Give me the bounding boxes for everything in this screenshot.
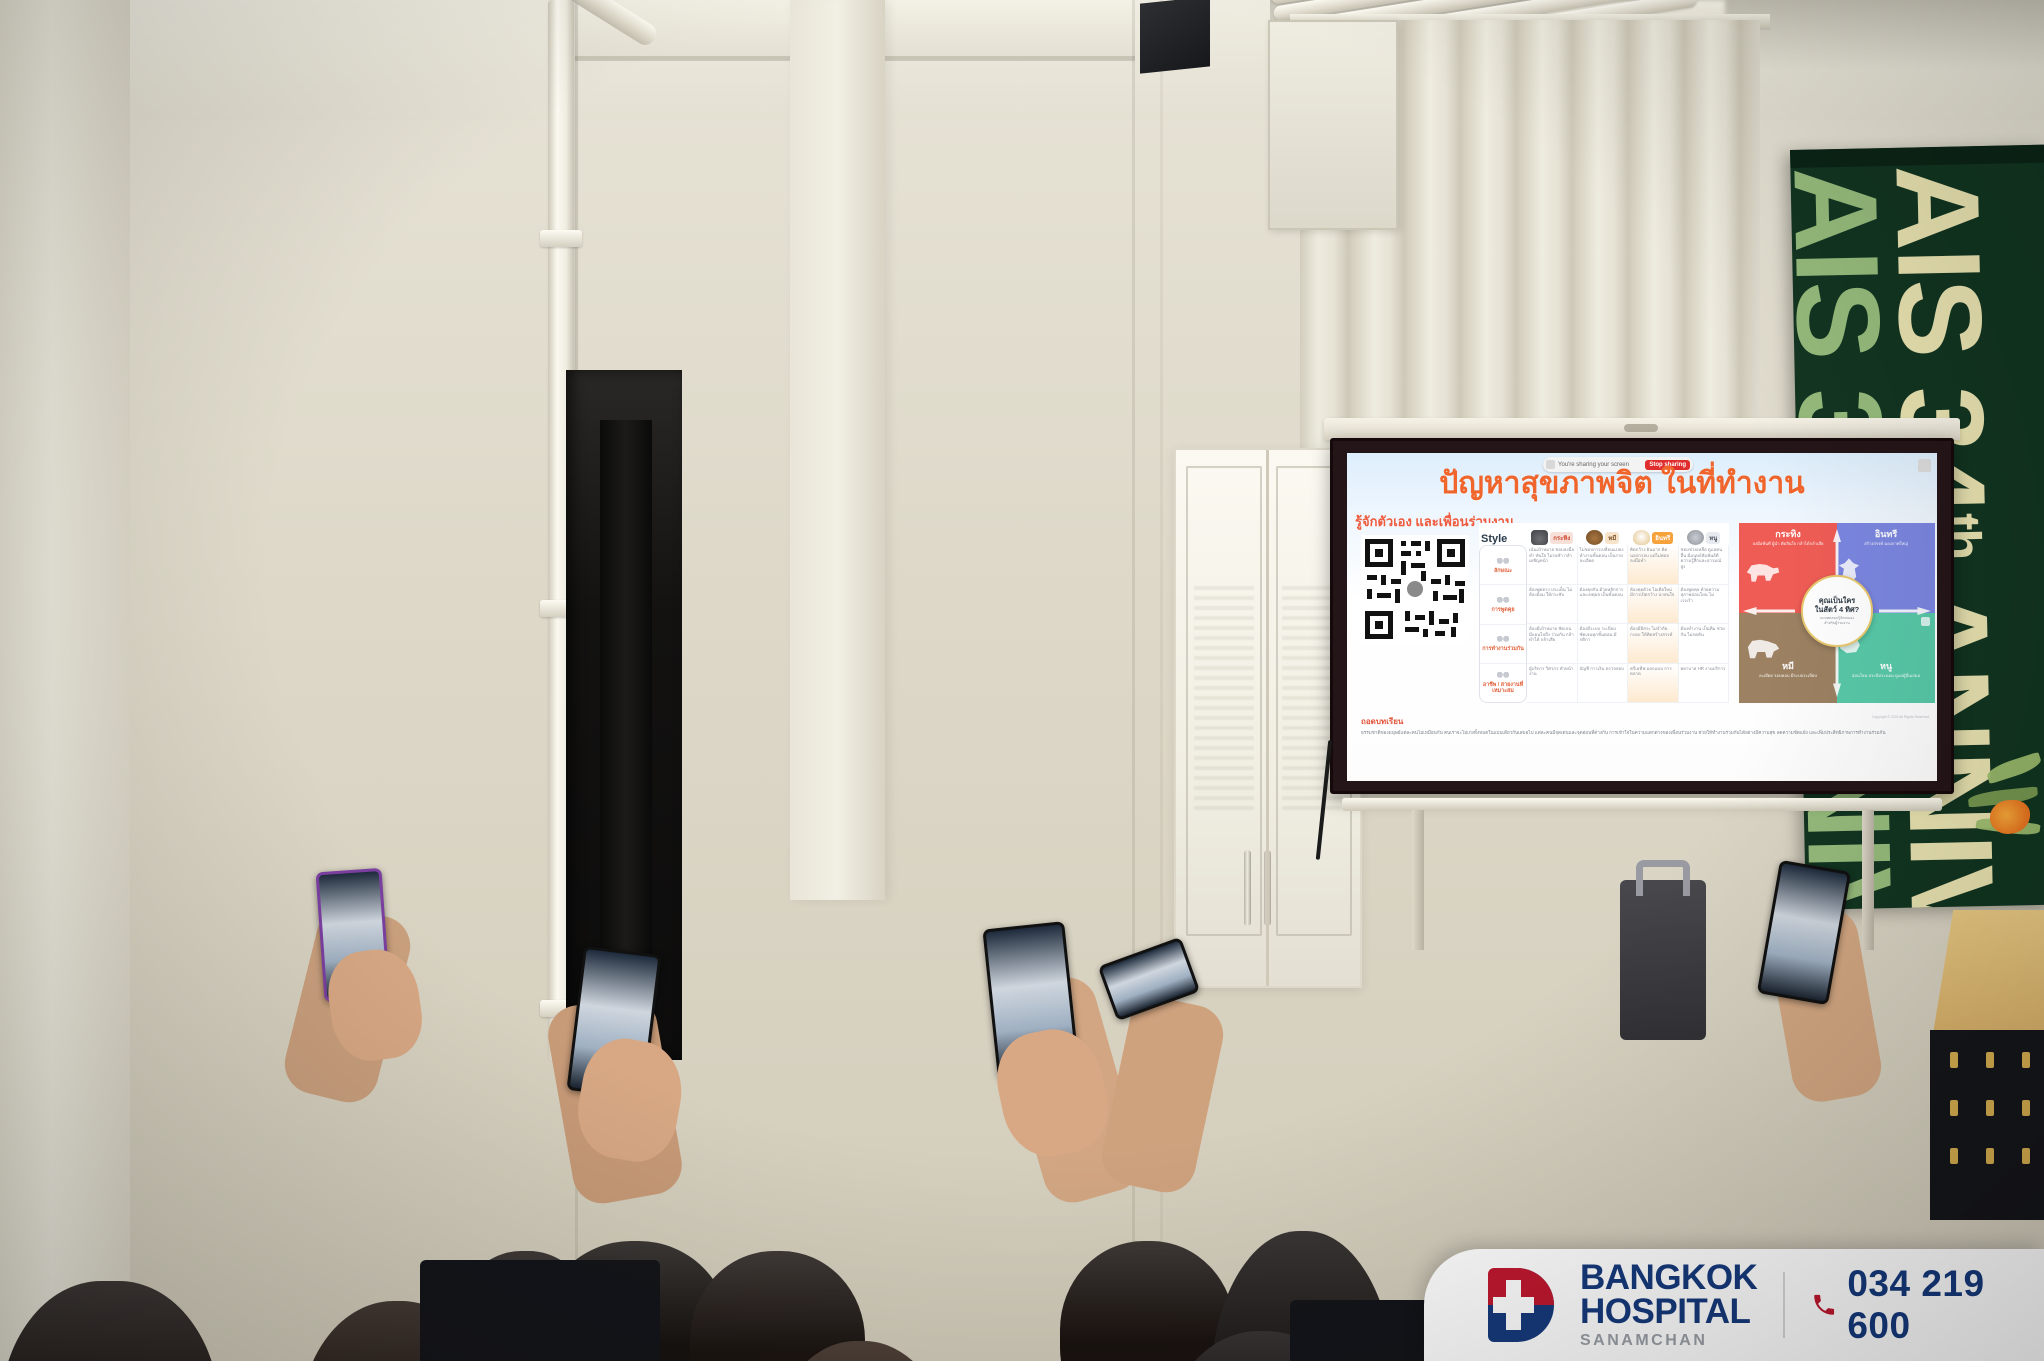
table-cell: ต้องทำงาน เป็นทีม ช่วยกัน ไม่กดดัน [1679, 624, 1729, 664]
electrical-cabinet[interactable] [1268, 20, 1398, 230]
table-cells: เน้นเป้าหมาย ชอบลงมือทำ ทันใจ ไม่รอช้า ก… [1527, 545, 1729, 703]
table-cell: ไม่ชอบการเปลี่ยนแปลง ทำงานขั้นตอน เป็นรา… [1578, 545, 1628, 585]
personality-style-table: Style กระทิง หมี อินทรี [1479, 523, 1729, 703]
table-row-labels: ลักษณะ การพูดคุย การทำงานร่วมกัน [1479, 545, 1527, 703]
contact-phone[interactable]: 034 219 600 [1811, 1263, 2044, 1347]
table-cell: ต้องพูดตรง ประเด็น ไม่ต้องอ้อม ให้กระชับ [1527, 585, 1577, 625]
bangkok-hospital-logo-mark [1488, 1268, 1554, 1342]
photo-canvas: AIS 34th ANNIVERS AIS 34th ANNIVERS AIS … [0, 0, 2044, 1361]
bull-icon [1531, 530, 1548, 545]
briefcase-icon [1495, 670, 1511, 682]
qr-code[interactable] [1361, 535, 1469, 643]
table-cell: พยาบาล HR งานบริการ [1679, 664, 1729, 704]
branch-name: SANAMCHAN [1580, 1333, 1757, 1348]
table-cell: ต้องมีอิสระ ไม่จำกัดกรอบ ให้คิดสร้างสรรค… [1628, 624, 1678, 664]
table-row-label-career: อาชีพ / สายงานที่เหมาะสม [1480, 664, 1526, 702]
table-col-label: หมี [1605, 532, 1619, 544]
slide-title: ปัญหาสุขภาพจิต ในที่ทำงาน [1407, 469, 1837, 500]
brand-line-2: HOSPITAL [1580, 1295, 1757, 1329]
table-corner-label: Style [1479, 533, 1527, 545]
table-cell: ต้องคุยกัน ด้วยหลักการ และเหตุผล เป็นขั้… [1578, 585, 1628, 625]
table-column-eagle: คิดกว้าง ฝันมาก คิดนอกกรอบ แต่ไม่ค่อยลงม… [1628, 545, 1679, 703]
medical-cross-icon [1493, 1297, 1534, 1313]
phone-icon [1811, 1292, 1837, 1318]
qr-finder [1365, 539, 1393, 567]
table-cell: ครีเอทีฟ ออกแบบ การตลาด [1628, 664, 1678, 704]
quadrant-center-callout: คุณเป็นใคร ในสัตว์ 4 ทิศ? แบบทดสอบรู้จัก… [1801, 575, 1873, 647]
table-row-label-characteristics: ลักษณะ [1480, 546, 1526, 585]
table-col-label: กระทิง [1550, 532, 1573, 544]
chair[interactable] [420, 1260, 660, 1361]
table-column-bear: ไม่ชอบการเปลี่ยนแปลง ทำงานขั้นตอน เป็นรา… [1578, 545, 1629, 703]
people-icon [1495, 556, 1511, 568]
four-animals-quadrant: กระทิง ลงมือทันที ผู้นำ ตัดสินใจ กล้าได้… [1739, 523, 1935, 703]
table-col-mouse: หนู [1679, 530, 1730, 545]
table-cell: คิดกว้าง ฝันมาก คิดนอกกรอบ แต่ไม่ค่อยลงม… [1628, 545, 1678, 585]
table-col-label: อินทรี [1652, 532, 1673, 544]
qr-finder [1365, 611, 1393, 639]
table-cell: ผู้บริหาร วิศวกร หัวหน้างาน [1527, 664, 1577, 704]
mouse-icon [1687, 530, 1704, 545]
pipe-band [540, 230, 582, 247]
display-top-bar [1324, 418, 1960, 440]
table-col-eagle: อินทรี [1628, 530, 1679, 545]
table-col-bull: กระทิง [1527, 530, 1578, 545]
hospital-logo-card: BANGKOK HOSPITAL SANAMCHAN 034 219 600 [1424, 1249, 2044, 1361]
head [1060, 1241, 1235, 1361]
window-control-icon[interactable] [1918, 459, 1931, 472]
table-cell: ต้องพูดคุย ด้วยความ สุภาพอ่อนโยน ไม่เร่ง… [1679, 585, 1729, 625]
qr-finder [1437, 539, 1465, 567]
table-header-row: Style กระทิง หมี อินทรี [1479, 523, 1729, 545]
head [0, 1281, 220, 1361]
bear-icon [1586, 530, 1603, 545]
chat-icon [1495, 595, 1511, 607]
phone-number: 034 219 600 [1847, 1263, 2044, 1347]
brand-line-1: BANGKOK [1580, 1261, 1757, 1295]
table-col-bear: หมี [1578, 530, 1629, 545]
teamwork-icon [1495, 634, 1511, 646]
qr-center-logo [1405, 579, 1425, 599]
table-col-label: หนู [1706, 532, 1720, 544]
logo-divider [1783, 1272, 1785, 1338]
grid-badge-icon [1921, 617, 1930, 626]
display-camera [1624, 424, 1658, 432]
eagle-icon [1633, 530, 1650, 545]
table-cell: ต้องมีเป้าหมาย ชัดเจน มีแผนไปถึง ร่วมกัน… [1527, 624, 1577, 664]
table-cell: ต้องมีระบบ ระเบียบ ชัดเจนทุกขั้นตอน มีกต… [1578, 624, 1628, 664]
quadrant-center-subtitle: แบบทดสอบรู้จักตนเอง สำหรับผู้ร่วมงาน [1820, 616, 1854, 624]
table-row-label-communication: การพูดคุย [1480, 585, 1526, 624]
raised-arm [1096, 992, 1228, 1198]
ceiling-speaker [1140, 0, 1210, 74]
table-body: ลักษณะ การพูดคุย การทำงานร่วมกัน [1479, 545, 1729, 703]
table-cell: บัญชี การเงิน ตรวจสอบ [1578, 664, 1628, 704]
table-row-label-teamwork: การทำงานร่วมกัน [1480, 625, 1526, 664]
table-column-bull: เน้นเป้าหมาย ชอบลงมือทำ ทันใจ ไม่รอช้า ก… [1527, 545, 1578, 703]
table-cell: ต้องคุยด้วย ไอเดียใหม่ มีการเปิดกว้าง น่… [1628, 585, 1678, 625]
hospital-wordmark: BANGKOK HOSPITAL SANAMCHAN [1580, 1261, 1757, 1349]
table-column-mouse: ชอบช่วยเหลือ ดูแลคนอื่น มีมนุษย์สัมพันธ์… [1679, 545, 1730, 703]
table-cell: ชอบช่วยเหลือ ดูแลคนอื่น มีมนุษย์สัมพันธ์… [1679, 545, 1729, 585]
table-cell: เน้นเป้าหมาย ชอบลงมือทำ ทันใจ ไม่รอช้า ก… [1527, 545, 1577, 585]
quadrant-center-title: คุณเป็นใคร ในสัตว์ 4 ทิศ? [1815, 597, 1859, 614]
